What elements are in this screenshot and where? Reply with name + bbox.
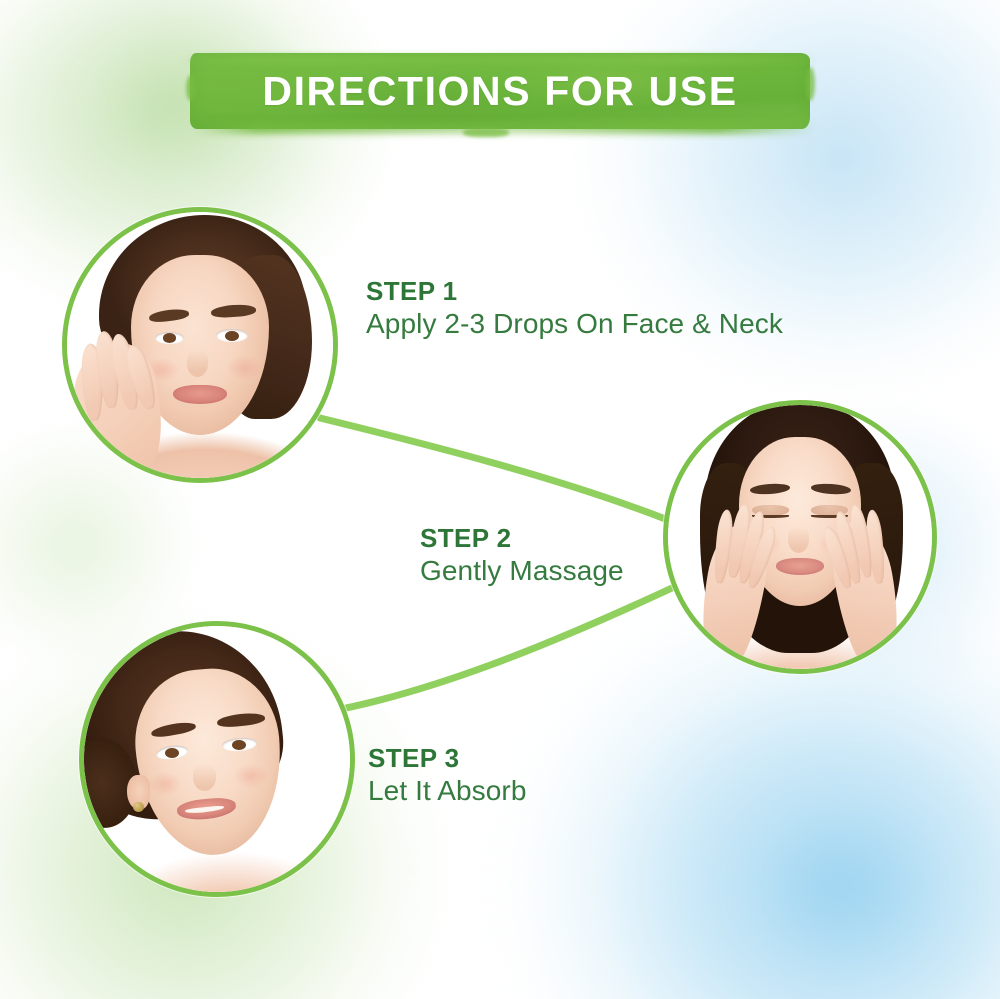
portrait-earring bbox=[133, 802, 144, 813]
portrait-nose bbox=[788, 526, 809, 552]
portrait-blush-left bbox=[148, 772, 183, 796]
portrait-lips bbox=[776, 558, 824, 575]
portrait-lips bbox=[173, 385, 226, 404]
step-2-photo bbox=[668, 405, 932, 669]
step-2-title: STEP 2 bbox=[420, 524, 624, 553]
portrait-pupil-left bbox=[163, 333, 176, 343]
step-3-photo bbox=[84, 626, 350, 892]
portrait-blush-right bbox=[233, 764, 268, 788]
portrait-blush-right bbox=[227, 356, 262, 380]
step-1-description: Apply 2-3 Drops On Face & Neck bbox=[366, 306, 783, 341]
page-title: DIRECTIONS FOR USE bbox=[190, 80, 810, 101]
step-3-description: Let It Absorb bbox=[368, 773, 527, 808]
portrait-pupil-left bbox=[165, 748, 179, 758]
connector-step3-step2 bbox=[300, 588, 672, 716]
portrait-gentle-massage bbox=[668, 405, 932, 669]
directions-for-use-infographic: DIRECTIONS FOR USE bbox=[0, 0, 1000, 999]
step-1-photo-circle[interactable] bbox=[62, 207, 338, 483]
portrait-nose bbox=[193, 764, 216, 791]
step-3-title: STEP 3 bbox=[368, 744, 527, 773]
step-3-photo-circle[interactable] bbox=[79, 621, 355, 897]
connector-step1-step2 bbox=[320, 418, 668, 520]
portrait-pupil-right bbox=[225, 331, 239, 341]
step-2-photo-circle[interactable] bbox=[663, 400, 937, 674]
step-2-description: Gently Massage bbox=[420, 553, 624, 588]
portrait-apply-drops bbox=[67, 212, 333, 478]
portrait-nose bbox=[187, 350, 208, 377]
step-1-title: STEP 1 bbox=[366, 277, 783, 306]
portrait-let-it-absorb bbox=[84, 626, 350, 892]
step-2-text-block: STEP 2 Gently Massage bbox=[420, 524, 624, 588]
step-3-text-block: STEP 3 Let It Absorb bbox=[368, 744, 527, 808]
step-1-text-block: STEP 1 Apply 2-3 Drops On Face & Neck bbox=[366, 277, 783, 341]
step-1-photo bbox=[67, 212, 333, 478]
